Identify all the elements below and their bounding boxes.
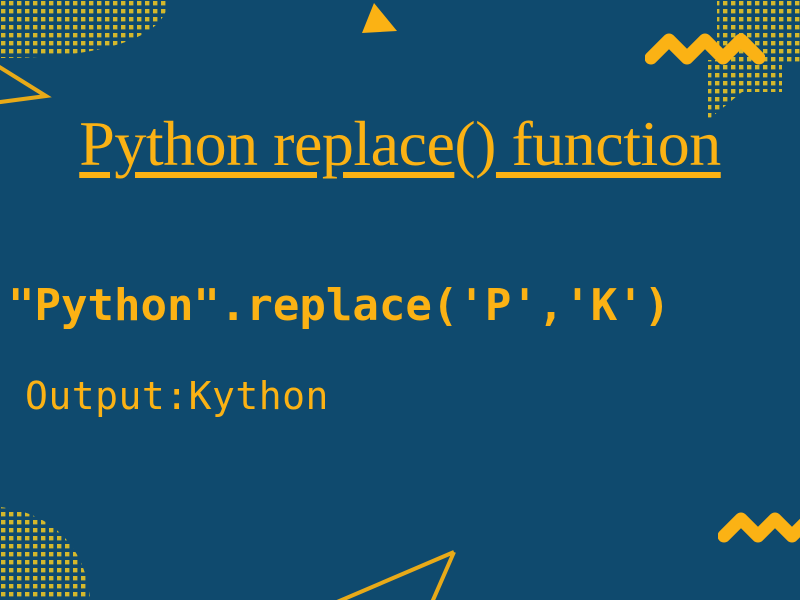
page-title-part-1: Python replace	[79, 108, 454, 179]
code-output: Output:Kython	[25, 374, 329, 418]
presentation-slide: Python replace() function "Python".repla…	[0, 0, 800, 600]
slide-content: Python replace() function "Python".repla…	[0, 0, 800, 600]
page-title-part-2: function	[496, 108, 721, 179]
page-title: Python replace() function	[0, 112, 800, 176]
page-title-parens: ()	[454, 108, 496, 179]
code-statement: "Python".replace('P','K')	[8, 280, 670, 331]
